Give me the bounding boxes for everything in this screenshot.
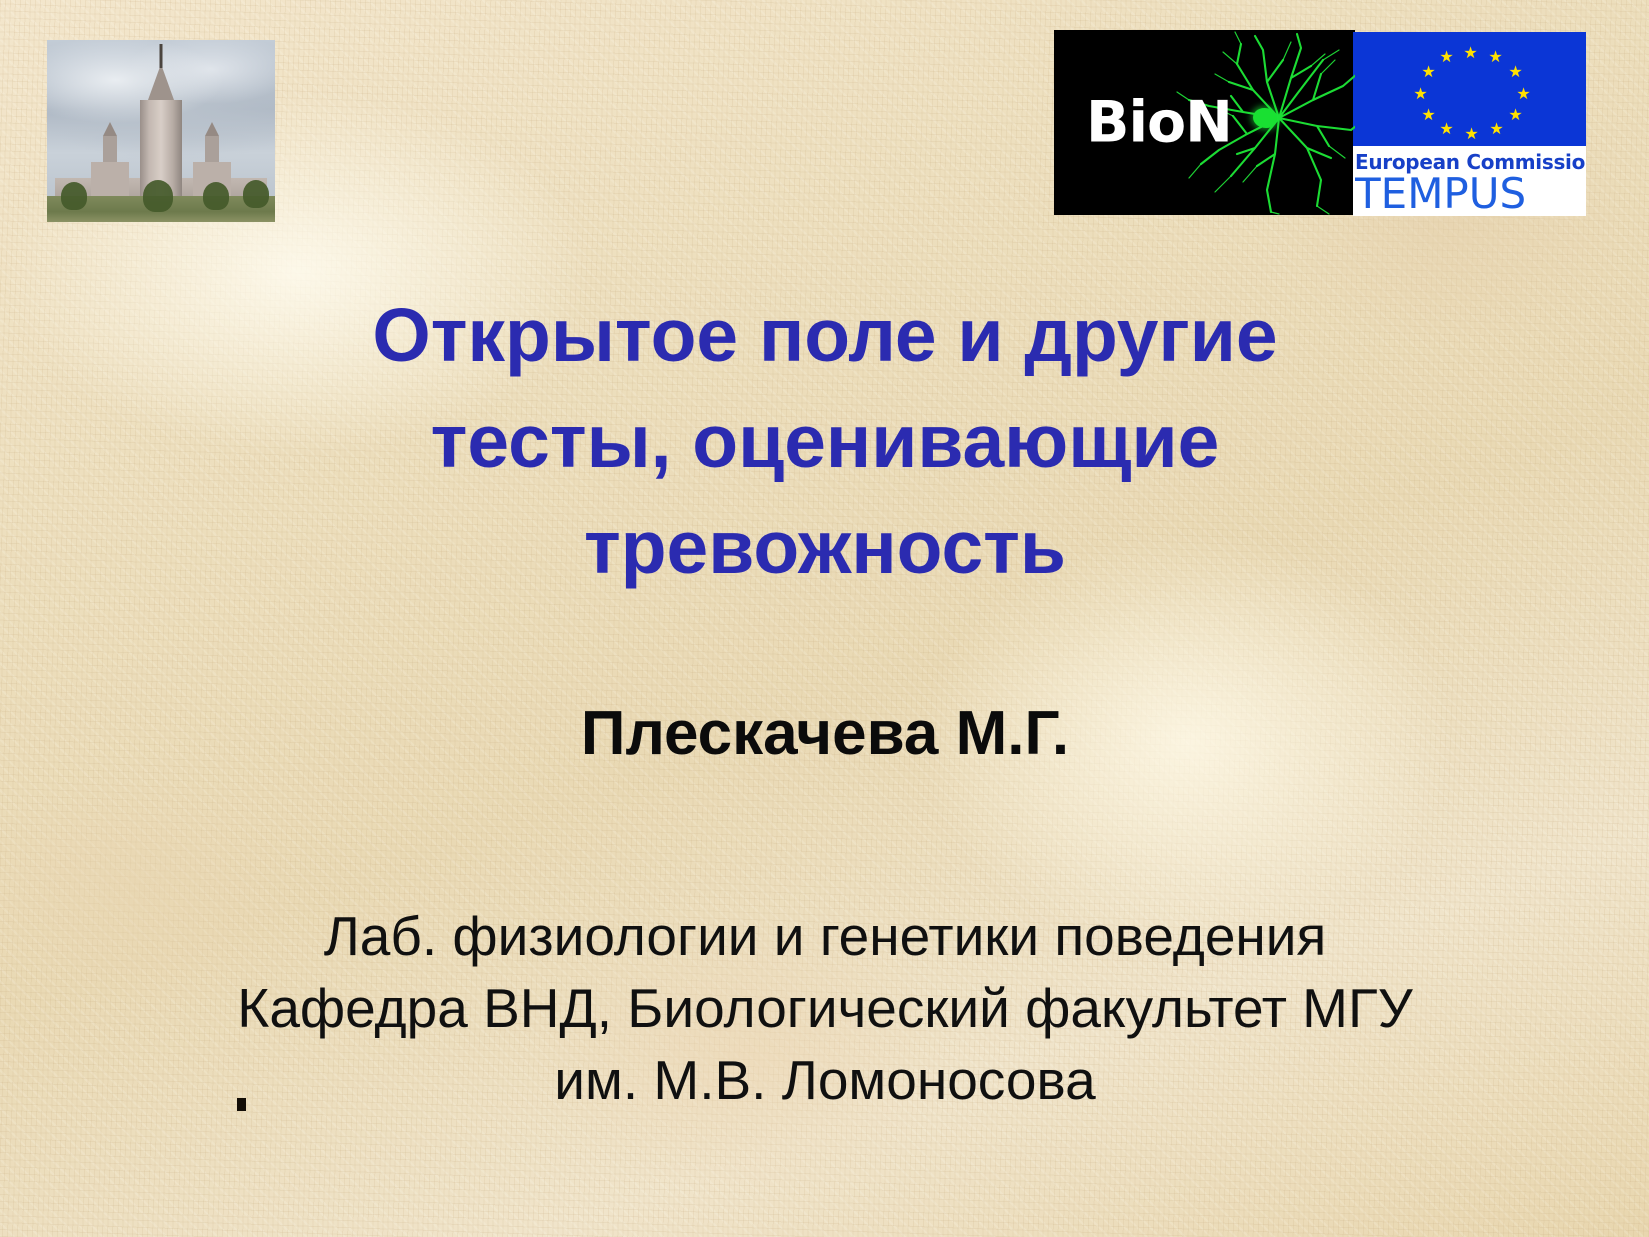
photo-tree	[143, 180, 173, 212]
affiliation-line-3: им. М.В. Ломоносова	[90, 1044, 1560, 1116]
msu-main-building-photo	[47, 40, 275, 222]
bion-wordmark: BioN	[1086, 94, 1232, 151]
photo-left-spire	[103, 136, 117, 162]
bion-logo: BioN	[1054, 30, 1355, 215]
eu-star-icon: ★	[1439, 122, 1454, 137]
photo-right-spire	[205, 136, 219, 162]
eu-star-icon: ★	[1421, 65, 1436, 80]
eu-star-icon: ★	[1463, 46, 1478, 61]
eu-star-icon: ★	[1508, 65, 1523, 80]
slide-title-line-1: Открытое поле и другие	[120, 282, 1530, 388]
affiliation-line-2: Кафедра ВНД, Биологический факультет МГУ	[90, 972, 1560, 1044]
affiliation-line-1: Лаб. физиологии и генетики поведения	[90, 900, 1560, 972]
eu-star-icon: ★	[1508, 108, 1523, 123]
eu-star-icon: ★	[1439, 50, 1454, 65]
slide-title-line-3: тревожность	[120, 494, 1530, 600]
slide-title-line-2: тесты, оценивающие	[120, 388, 1530, 494]
scan-artifact-mark	[237, 1098, 246, 1111]
eu-star-icon: ★	[1489, 122, 1504, 137]
author-name: Плескачева М.Г.	[120, 695, 1530, 773]
european-commission-label: European Commission	[1355, 150, 1586, 174]
eu-star-icon: ★	[1464, 127, 1479, 142]
affiliation-block: Лаб. физиологии и генетики поведения Каф…	[90, 900, 1560, 1116]
eu-flag-icon: ★ ★ ★ ★ ★ ★ ★ ★ ★ ★ ★ ★	[1353, 32, 1586, 146]
eu-star-icon: ★	[1413, 87, 1428, 102]
eu-star-icon: ★	[1421, 108, 1436, 123]
photo-tree	[243, 180, 269, 208]
presentation-slide: BioN ★ ★ ★ ★ ★ ★ ★ ★ ★ ★ ★ ★ European Co…	[0, 0, 1649, 1237]
eu-star-icon: ★	[1488, 50, 1503, 65]
tempus-wordmark: TEMPUS	[1355, 172, 1586, 216]
tempus-logo: ★ ★ ★ ★ ★ ★ ★ ★ ★ ★ ★ ★ European Commiss…	[1353, 32, 1586, 216]
eu-star-icon: ★	[1516, 87, 1531, 102]
photo-tree	[203, 182, 229, 210]
neuron-soma-icon	[1253, 108, 1277, 128]
slide-title: Открытое поле и другие тесты, оценивающи…	[120, 282, 1530, 600]
photo-tree	[61, 182, 87, 210]
